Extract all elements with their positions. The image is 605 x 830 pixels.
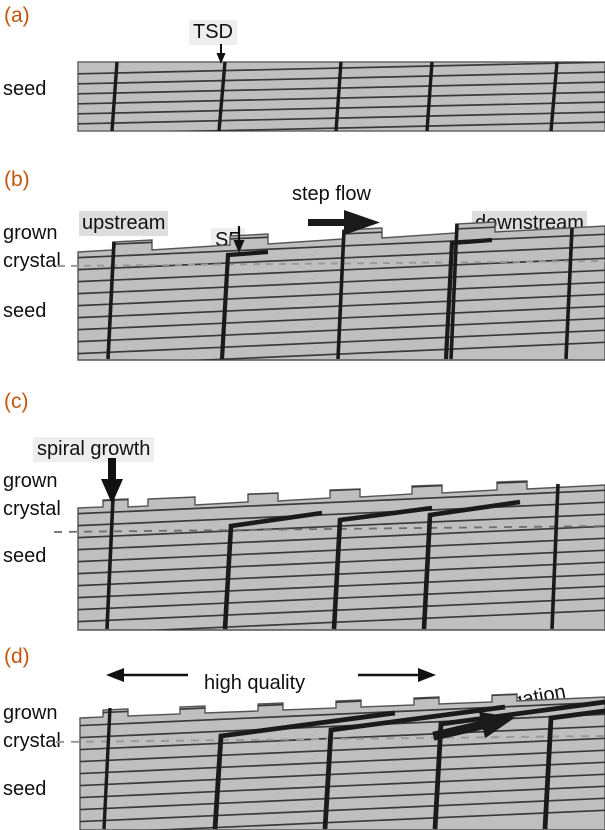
panel-c-graphic — [0, 380, 605, 630]
spiral-growth-arrow-icon — [101, 458, 123, 504]
panel-b-graphic — [0, 160, 605, 360]
high-quality-left-arrow-icon — [106, 668, 188, 682]
high-quality-right-arrow-icon — [358, 668, 436, 682]
panel-a-graphic — [0, 0, 605, 160]
panel-d-graphic — [0, 630, 605, 830]
tsd-arrow-icon — [217, 44, 226, 64]
grown-crystal-stepped-body — [78, 481, 605, 630]
